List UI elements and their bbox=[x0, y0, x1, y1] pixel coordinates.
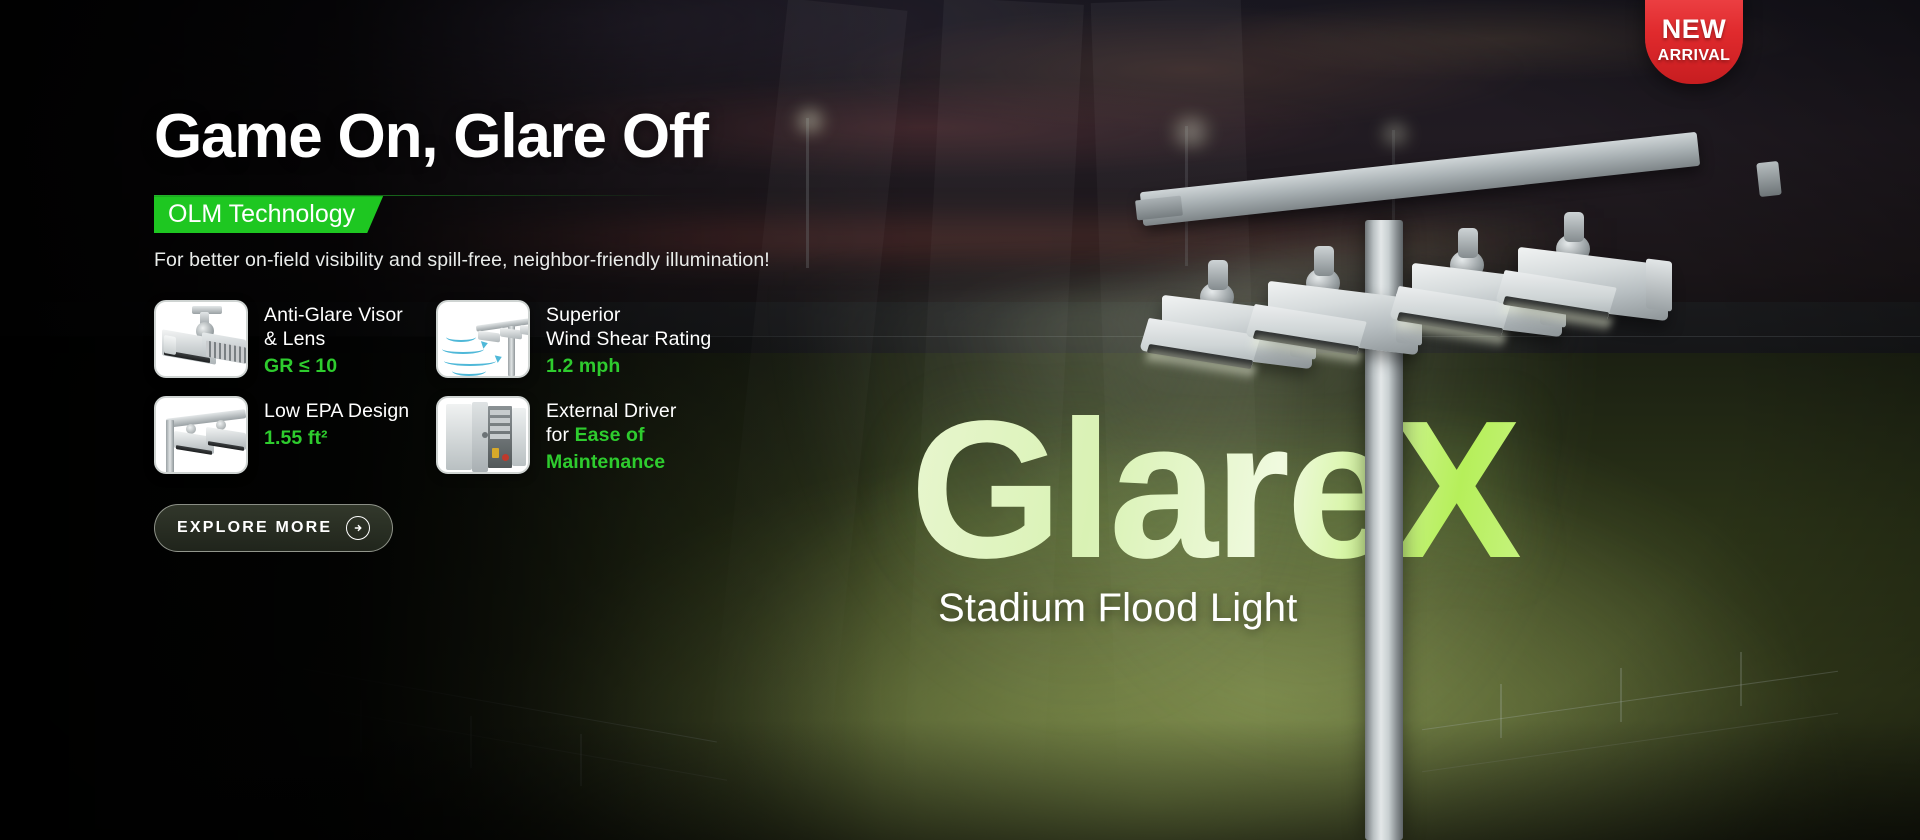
technology-tag: OLM Technology bbox=[154, 196, 383, 233]
fixture-knuckle bbox=[1564, 212, 1584, 242]
hero-content: Game On, Glare Off OLM Technology For be… bbox=[154, 104, 854, 552]
feature-title-line2: for Ease of bbox=[546, 424, 676, 448]
fixture-knuckle bbox=[1314, 246, 1334, 276]
new-arrival-badge: NEW ARRIVAL bbox=[1645, 0, 1743, 84]
crossarm-end-cap bbox=[1756, 161, 1782, 197]
feature-text: External Driver for Ease of Maintenance bbox=[546, 396, 676, 474]
feature-title-line1: External Driver bbox=[546, 400, 676, 424]
fixture-side-panel bbox=[1646, 258, 1672, 311]
feature-text: Low EPA Design 1.55 ft² bbox=[264, 396, 409, 450]
feature-item-external-driver: External Driver for Ease of Maintenance bbox=[436, 396, 854, 474]
feature-item-wind-shear: Superior Wind Shear Rating 1.2 mph bbox=[436, 300, 854, 378]
feature-title-line1: Anti-Glare Visor bbox=[264, 304, 403, 328]
hero-banner: GlareX Stadium Flood Light bbox=[0, 0, 1920, 840]
feature-value: GR ≤ 10 bbox=[264, 354, 403, 378]
feature-value-inline-a: Ease of bbox=[575, 424, 645, 446]
fixture-knuckle bbox=[1458, 228, 1478, 258]
feature-title-line1: Low EPA Design bbox=[264, 400, 409, 424]
feature-title-line2: Wind Shear Rating bbox=[546, 328, 711, 352]
explore-more-button[interactable]: EXPLORE MORE bbox=[154, 504, 393, 552]
badge-line-new: NEW bbox=[1662, 16, 1727, 43]
feature-value: 1.2 mph bbox=[546, 354, 711, 378]
external-driver-thumbnail-icon bbox=[436, 396, 530, 474]
flood-light-fixture bbox=[1518, 234, 1668, 326]
page-title: Game On, Glare Off bbox=[154, 104, 854, 169]
technology-tag-row: OLM Technology bbox=[154, 195, 854, 233]
low-epa-thumbnail-icon bbox=[154, 396, 248, 474]
badge-line-arrival: ARRIVAL bbox=[1658, 48, 1731, 64]
explore-more-label: EXPLORE MORE bbox=[177, 519, 332, 537]
feature-grid: Anti-Glare Visor & Lens GR ≤ 10 bbox=[154, 300, 854, 474]
flood-light-pole bbox=[1150, 150, 1770, 840]
flood-light-visor-thumbnail-icon bbox=[154, 300, 248, 378]
fixture-knuckle bbox=[1208, 260, 1228, 290]
feature-item-low-epa: Low EPA Design 1.55 ft² bbox=[154, 396, 436, 474]
feature-title-line2: & Lens bbox=[264, 328, 403, 352]
distant-pole-glow bbox=[1372, 118, 1418, 150]
feature-text: Superior Wind Shear Rating 1.2 mph bbox=[546, 300, 711, 378]
feature-value-inline-b: Maintenance bbox=[546, 450, 676, 474]
feature-value: 1.55 ft² bbox=[264, 426, 409, 450]
arrow-right-circle-icon bbox=[346, 516, 370, 540]
wind-shear-thumbnail-icon bbox=[436, 300, 530, 378]
feature-text: Anti-Glare Visor & Lens GR ≤ 10 bbox=[264, 300, 403, 378]
feature-item-anti-glare: Anti-Glare Visor & Lens GR ≤ 10 bbox=[154, 300, 436, 378]
tag-divider-rule bbox=[154, 195, 678, 196]
subheadline: For better on-field visibility and spill… bbox=[154, 249, 854, 272]
feature-title-line1: Superior bbox=[546, 304, 711, 328]
feature-title-prefix: for bbox=[546, 424, 575, 446]
